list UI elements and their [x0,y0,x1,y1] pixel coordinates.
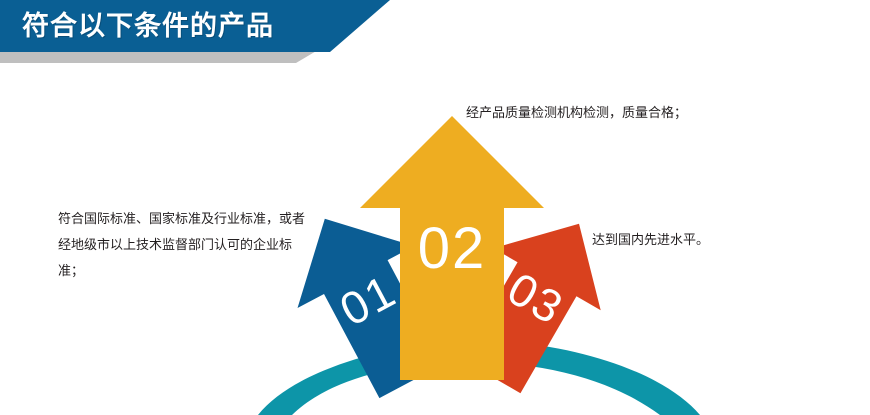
infographic-canvas: 符合以下条件的产品 01 03 02 符合国际标准、国家标准及行业标准，或者经地… [0,0,870,415]
caption-right: 达到国内先进水平。 [592,227,832,253]
caption-top: 经产品质量检测机构检测，质量合格； [466,100,796,126]
arrow-02-number: 02 [418,216,487,281]
page-title: 符合以下条件的产品 [22,4,274,48]
caption-left: 符合国际标准、国家标准及行业标准，或者经地级市以上技术监督部门认可的企业标准； [58,206,306,284]
